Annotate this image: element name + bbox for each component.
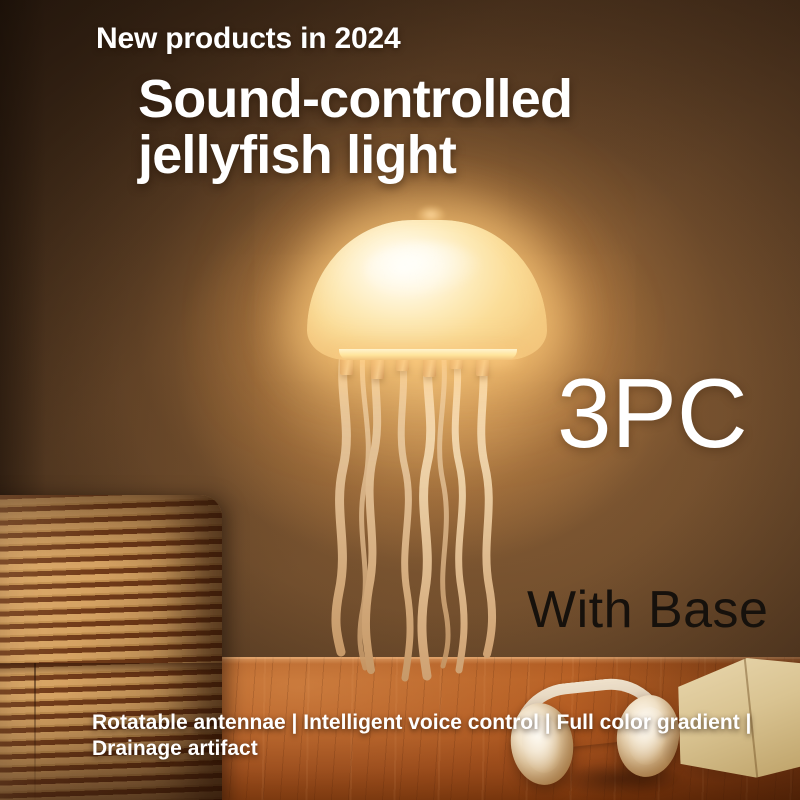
wall-corner-seam (0, 0, 46, 520)
dome-bottom-rim-light (339, 349, 517, 360)
feature-line-1: Rotatable antennae | Intelligent voice c… (92, 711, 651, 734)
dome-highlight (365, 242, 485, 298)
jellyfish-lamp (283, 212, 565, 682)
headline-line-1: Sound-controlled (138, 69, 572, 129)
feature-list-text: Rotatable antennae | Intelligent voice c… (92, 710, 752, 763)
pillow-crease (34, 663, 36, 800)
eyebrow-text: New products in 2024 (96, 22, 400, 56)
page-title: Sound-controlled jellyfish light (138, 72, 572, 183)
with-base-badge: With Base (527, 584, 768, 636)
lamp-tentacles (283, 340, 565, 682)
headline-line-2: jellyfish light (138, 128, 572, 184)
poster-image: New products in 2024 Sound-controlled je… (0, 0, 800, 800)
lamp-dome-shade (307, 220, 547, 360)
quantity-badge: 3PC (557, 364, 748, 462)
